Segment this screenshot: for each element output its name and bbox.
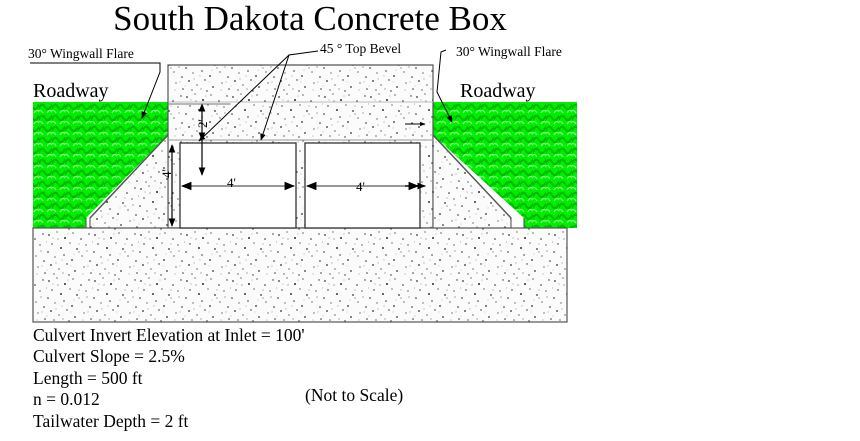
note-not-to-scale: (Not to Scale) bbox=[305, 385, 403, 406]
label-roadway-right: Roadway bbox=[460, 80, 536, 102]
callout-wingwall-left: 30° Wingwall Flare bbox=[28, 46, 134, 61]
notes-block: Culvert Invert Elevation at Inlet = 100'… bbox=[33, 325, 305, 432]
culvert-diagram-figure: South Dakota Concrete Box bbox=[0, 0, 860, 441]
note-mannings-n: n = 0.012 bbox=[33, 389, 305, 410]
dimension-label-span-left: 4' bbox=[227, 176, 236, 190]
label-roadway-left: Roadway bbox=[33, 80, 109, 102]
note-invert-elevation: Culvert Invert Elevation at Inlet = 100' bbox=[33, 325, 305, 346]
callout-wingwall-right: 30° Wingwall Flare bbox=[456, 44, 562, 59]
dimension-label-rise: 4' bbox=[160, 169, 174, 178]
callout-top-bevel: 45 ° Top Bevel bbox=[320, 41, 401, 56]
base-slab bbox=[33, 228, 567, 322]
note-tailwater-depth: Tailwater Depth = 2 ft bbox=[33, 411, 305, 432]
dimension-label-span-right: 4' bbox=[356, 180, 365, 194]
dimension-label-slab-thickness: 2' bbox=[196, 119, 210, 128]
note-length: Length = 500 ft bbox=[33, 368, 305, 389]
note-culvert-slope: Culvert Slope = 2.5% bbox=[33, 346, 305, 367]
